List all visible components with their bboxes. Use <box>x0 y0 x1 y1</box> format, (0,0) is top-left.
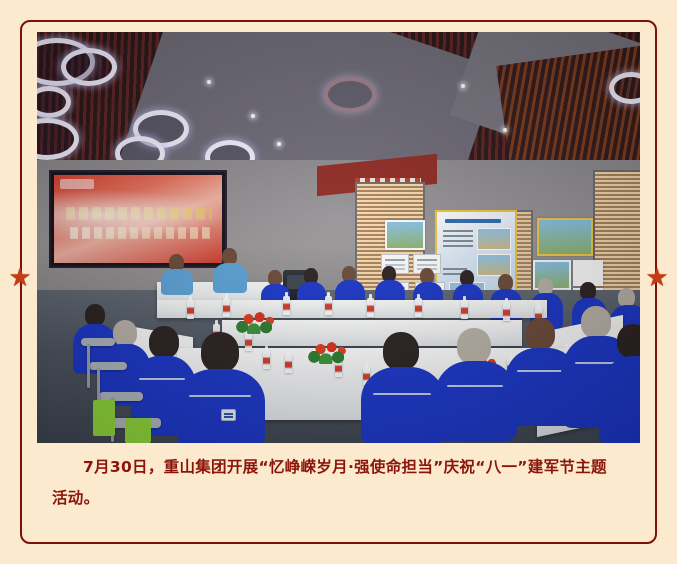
uniform-stripe <box>139 378 185 380</box>
conference-table <box>157 300 547 318</box>
uniform-stripe <box>373 393 431 395</box>
water-bottle <box>245 332 252 351</box>
activity-photo <box>37 32 640 443</box>
uniform-stripe <box>447 385 503 387</box>
flower-arrangement <box>305 340 351 364</box>
water-bottle <box>223 298 230 317</box>
person-head <box>525 318 555 350</box>
ceiling-downlight <box>251 114 255 118</box>
uniform-stripe <box>189 395 251 397</box>
screen-banner-line1 <box>66 207 212 220</box>
ceiling-light-ring <box>61 48 117 86</box>
water-bottle <box>263 350 270 369</box>
page-root: ★ ★ <box>0 0 677 564</box>
board-title-bar <box>445 219 501 223</box>
ceiling-light-ring <box>323 76 377 113</box>
chair-leg <box>87 344 90 388</box>
chair <box>89 362 127 370</box>
projector-screen <box>51 172 225 266</box>
person-head <box>113 320 137 346</box>
person-head <box>383 332 419 370</box>
uniform-badge <box>221 409 236 421</box>
water-bottle <box>461 300 468 319</box>
board-text-line <box>443 240 473 242</box>
ceiling-downlight <box>207 80 211 84</box>
water-bottle <box>367 298 374 317</box>
bag <box>125 418 151 443</box>
screen-logo <box>60 179 94 189</box>
person-head <box>617 324 640 358</box>
ceiling-downlight <box>503 128 507 132</box>
board-text-line <box>443 245 473 247</box>
ceiling-downlight <box>277 142 281 146</box>
photo-content <box>37 32 640 443</box>
wall-photo <box>537 218 593 256</box>
ceiling-downlight <box>461 84 465 88</box>
photo-caption: 7月30日，重山集团开展“忆峥嵘岁月·强使命担当”庆祝“八一”建军节主题活动。 <box>52 452 622 514</box>
water-bottle <box>415 298 422 317</box>
water-bottle <box>283 296 290 315</box>
uniform-stripe <box>517 370 565 372</box>
bag <box>93 400 115 436</box>
ceiling-light-ring <box>37 118 79 160</box>
water-bottle <box>285 354 292 373</box>
star-icon-right: ★ <box>644 264 670 290</box>
person-body <box>361 367 445 443</box>
person-body <box>213 263 247 293</box>
water-bottle <box>325 296 332 315</box>
person-head <box>201 332 239 372</box>
wall-photo <box>385 220 425 250</box>
board-photo <box>477 228 511 250</box>
person-head <box>581 306 611 338</box>
board-text-line <box>443 230 473 232</box>
person-body <box>177 369 265 443</box>
screen-banner-line2 <box>70 227 210 239</box>
water-bottle <box>187 300 194 319</box>
board-text-line <box>443 235 473 237</box>
star-icon-left: ★ <box>7 264 33 290</box>
ceiling-light-ring <box>37 86 71 118</box>
water-bottle <box>503 302 510 321</box>
flower-arrangement <box>233 310 279 334</box>
person-head <box>457 328 491 364</box>
board-photo <box>477 254 511 276</box>
person-head <box>85 304 105 326</box>
person-head <box>149 326 179 358</box>
person-body <box>161 269 193 295</box>
